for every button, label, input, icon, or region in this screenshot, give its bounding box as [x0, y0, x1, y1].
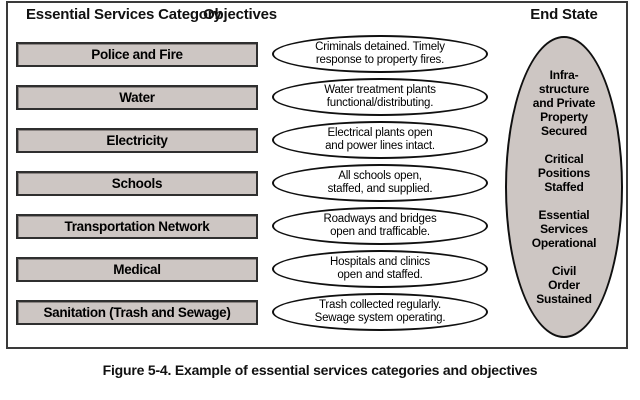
objective-ellipse[interactable]: Criminals detained. Timely response to p…: [272, 35, 488, 73]
objective-ellipse[interactable]: Water treatment plants functional/distri…: [272, 78, 488, 116]
category-bar[interactable]: Water: [16, 85, 258, 110]
category-bar[interactable]: Sanitation (Trash and Sewage): [16, 300, 258, 325]
category-bar-label: Schools: [112, 177, 162, 191]
category-bar[interactable]: Schools: [16, 171, 258, 196]
objective-text: Roadways and bridges open and trafficabl…: [324, 213, 437, 239]
category-bar[interactable]: Transportation Network: [16, 214, 258, 239]
objective-text: All schools open, staffed, and supplied.: [328, 170, 433, 196]
category-bar-label: Sanitation (Trash and Sewage): [43, 306, 230, 320]
end-state-ellipse: Infra- structure and Private Property Se…: [505, 36, 623, 338]
objective-text: Trash collected regularly. Sewage system…: [315, 299, 446, 325]
end-state-item: Essential Services Operational: [512, 208, 616, 250]
objective-ellipse[interactable]: Trash collected regularly. Sewage system…: [272, 293, 488, 331]
category-bar[interactable]: Electricity: [16, 128, 258, 153]
category-bar-label: Water: [119, 91, 155, 105]
end-state-item: Civil Order Sustained: [512, 264, 616, 306]
end-state-item: Critical Positions Staffed: [512, 152, 616, 194]
objective-text: Water treatment plants functional/distri…: [324, 84, 436, 110]
objective-ellipse[interactable]: All schools open, staffed, and supplied.: [272, 164, 488, 202]
category-bar-label: Transportation Network: [65, 220, 210, 234]
objective-text: Criminals detained. Timely response to p…: [315, 41, 445, 67]
objective-ellipse[interactable]: Roadways and bridges open and trafficabl…: [272, 207, 488, 245]
figure-root: Essential Services Category Objectives E…: [0, 0, 640, 400]
objective-ellipse[interactable]: Hospitals and clinics open and staffed.: [272, 250, 488, 288]
end-state-item: Infra- structure and Private Property Se…: [512, 68, 616, 138]
objective-text: Electrical plants open and power lines i…: [325, 127, 435, 153]
objective-text: Hospitals and clinics open and staffed.: [330, 256, 430, 282]
category-bar-label: Police and Fire: [91, 48, 183, 62]
category-bar-label: Medical: [113, 263, 160, 277]
category-bar[interactable]: Police and Fire: [16, 42, 258, 67]
objective-ellipse[interactable]: Electrical plants open and power lines i…: [272, 121, 488, 159]
category-bar[interactable]: Medical: [16, 257, 258, 282]
figure-caption: Figure 5-4. Example of essential service…: [0, 362, 640, 378]
category-bar-label: Electricity: [106, 134, 167, 148]
